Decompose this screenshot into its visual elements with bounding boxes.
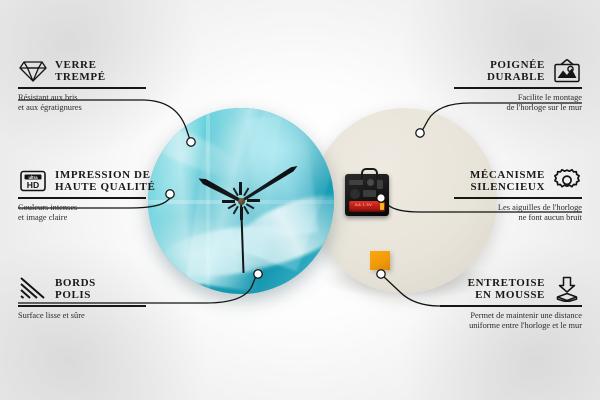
mechanism-hanger-hook — [361, 168, 378, 179]
mechanism-detail — [367, 179, 374, 186]
callout-entretoise-en-mousse[interactable]: ENTRETOISE EN MOUSSE Permet de maintenir… — [440, 276, 582, 331]
callout-rule — [454, 87, 582, 89]
clock-mechanism: AA 1.5V — [345, 174, 389, 216]
callout-header: BORDS POLIS — [18, 276, 146, 302]
callout-rule — [18, 305, 146, 307]
foam-spacer-pad — [370, 251, 390, 270]
callout-bords-polis[interactable]: BORDS POLIS Surface lisse et sûre — [18, 276, 146, 321]
hands-center-cap — [238, 198, 245, 205]
callout-header: ultra HD IMPRESSION DE HAUTE QUALITÉ — [18, 168, 146, 194]
ultra-hd-icon: ultra HD — [18, 168, 48, 194]
diamond-icon — [18, 58, 48, 84]
gear-icon — [552, 168, 582, 194]
foam-spacer-icon — [552, 276, 582, 302]
callout-description: Les aiguilles de l'horloge ne font aucun… — [454, 203, 582, 224]
front-clock-face — [148, 108, 334, 294]
hour-tick — [148, 200, 241, 202]
callout-rule — [440, 305, 582, 307]
callout-description: Couleurs intenses et image claire — [18, 203, 146, 224]
callout-rule — [18, 87, 146, 89]
callout-title: MÉCANISME SILENCIEUX — [470, 169, 545, 194]
callout-description: Permet de maintenir une distance uniform… — [440, 311, 582, 332]
callout-poignee-durable[interactable]: POIGNÉE DURABLE Facilite le montage de l… — [454, 58, 582, 113]
infographic-canvas: AA 1.5V — [0, 0, 600, 400]
mechanism-detail — [363, 190, 376, 197]
callout-mecanisme-silencieux[interactable]: MÉCANISME SILENCIEUX Les aiguilles de l'… — [454, 168, 582, 223]
callout-header: VERRE TREMPÉ — [18, 58, 146, 84]
picture-hanger-icon — [552, 58, 582, 84]
hour-tick — [241, 200, 334, 202]
callout-title: ENTRETOISE EN MOUSSE — [468, 277, 545, 302]
battery-label: AA 1.5V — [355, 202, 372, 207]
callout-title: IMPRESSION DE HAUTE QUALITÉ — [55, 169, 155, 194]
mechanism-detail — [377, 180, 383, 189]
svg-text:ultra: ultra — [28, 175, 38, 180]
hour-tick — [240, 108, 242, 201]
callout-header: POIGNÉE DURABLE — [454, 58, 582, 84]
callout-description: Surface lisse et sûre — [18, 311, 146, 321]
callout-description: Facilite le montage de l'horloge sur le … — [454, 93, 582, 114]
svg-text:HD: HD — [27, 180, 39, 190]
callout-title: VERRE TREMPÉ — [55, 59, 106, 84]
mechanism-detail — [349, 180, 363, 185]
diagonal-stripes-icon — [18, 276, 48, 302]
callout-verre-trempe[interactable]: VERRE TREMPÉ Résistant aux bris et aux é… — [18, 58, 146, 113]
battery: AA 1.5V — [349, 201, 385, 212]
callout-rule — [454, 197, 582, 199]
mechanism-detail — [350, 189, 360, 199]
callout-header: MÉCANISME SILENCIEUX — [454, 168, 582, 194]
callout-title: POIGNÉE DURABLE — [487, 59, 545, 84]
callout-impression-haute-qualite[interactable]: ultra HD IMPRESSION DE HAUTE QUALITÉ Cou… — [18, 168, 146, 223]
callout-header: ENTRETOISE EN MOUSSE — [440, 276, 582, 302]
callout-rule — [18, 197, 146, 199]
callout-title: BORDS POLIS — [55, 277, 96, 302]
callout-description: Résistant aux bris et aux égratignures — [18, 93, 146, 114]
